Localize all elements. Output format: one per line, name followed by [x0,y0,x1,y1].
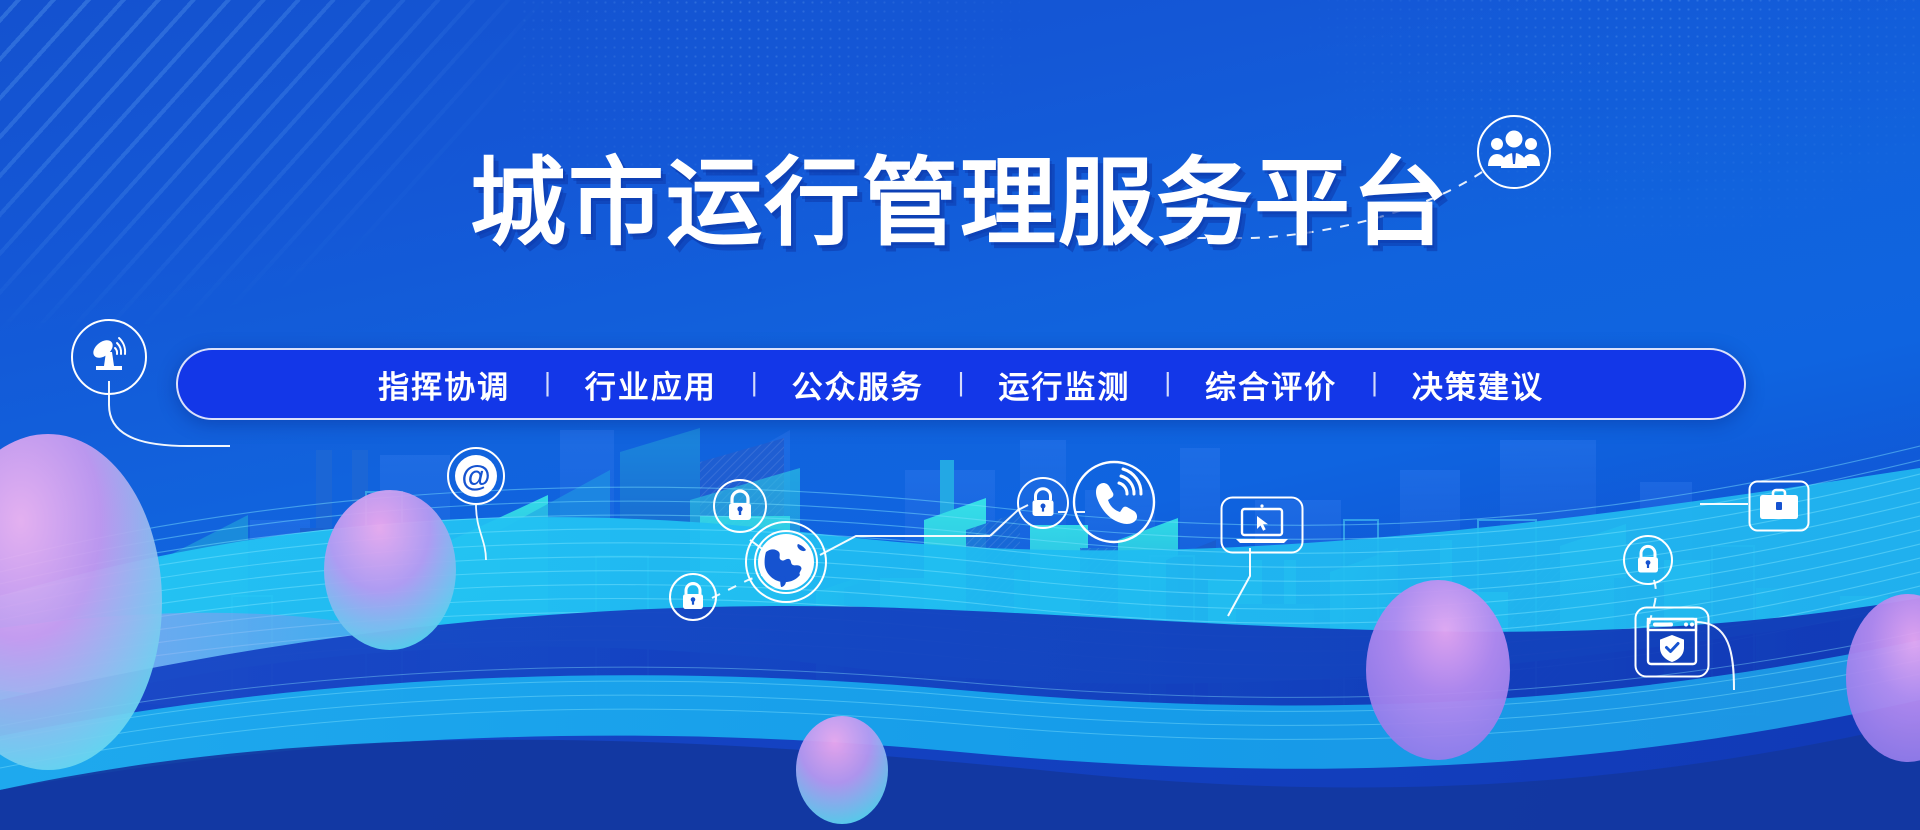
at-sign-icon[interactable]: @ [446,446,506,506]
sphere-right [1366,580,1510,760]
briefcase-icon[interactable] [1748,480,1810,532]
main-nav[interactable]: 指挥协调 | 行业应用 | 公众服务 | 运行监测 | 综合评价 | 决策建议 [176,348,1746,420]
nav-separator: | [1371,367,1378,398]
svg-text:@: @ [461,460,490,493]
nav-separator: | [1164,367,1171,398]
people-group-icon[interactable] [1476,114,1552,190]
sphere-center-bottom [796,716,888,824]
sphere-mid-left [324,490,456,650]
lock-icon-center[interactable] [1016,476,1070,530]
nav-item-decision-advice[interactable]: 决策建议 [1378,362,1578,407]
hero-banner: 城市运行管理服务平台 指挥协调 | 行业应用 | 公众服务 | 运行监测 | 综… [0,0,1920,830]
nav-item-public-service[interactable]: 公众服务 [758,362,958,407]
nav-separator: | [958,367,965,398]
nav-item-industry-application[interactable]: 行业应用 [551,362,751,407]
nav-separator: | [751,367,758,398]
lock-icon-right[interactable] [1622,534,1674,586]
globe-icon[interactable] [744,520,828,604]
phone-signal-icon[interactable] [1072,460,1156,544]
satellite-dish-icon[interactable] [70,318,148,396]
nav-separator: | [544,367,551,398]
laptop-cursor-icon[interactable] [1220,496,1304,554]
nav-item-comprehensive-evaluation[interactable]: 综合评价 [1171,362,1371,407]
nav-item-operation-monitoring[interactable]: 运行监测 [964,362,1164,407]
browser-shield-icon[interactable] [1634,606,1710,678]
nav-item-command-coordination[interactable]: 指挥协调 [344,362,544,407]
lock-icon-lower[interactable] [668,572,718,622]
wave-group [0,446,1920,830]
